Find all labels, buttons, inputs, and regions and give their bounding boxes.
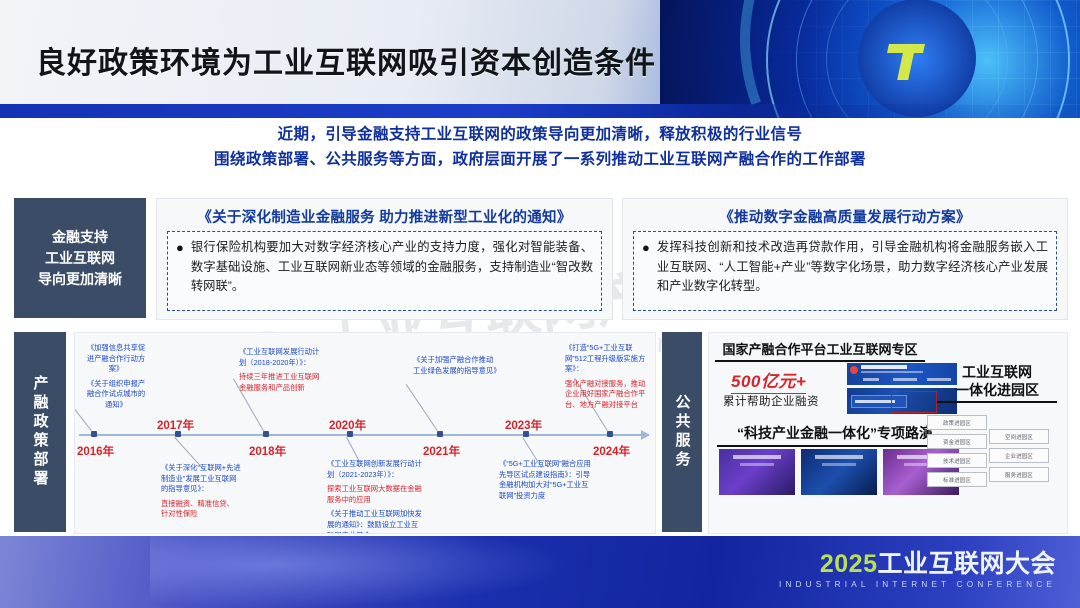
timeline-year-2023: 2023年	[505, 417, 542, 433]
footer-glow	[150, 536, 570, 608]
timeline-note-2018-item-0: 《工业互联网发展行动计划（2018-2020年）》：	[239, 347, 319, 367]
header-bottom-bar	[0, 104, 1080, 118]
timeline-year-2024: 2024年	[593, 443, 630, 459]
timeline-year-2018: 2018年	[249, 443, 286, 459]
park-tag-capital[interactable]: 资金进园区	[927, 434, 987, 449]
timeline-node-2021[interactable]	[437, 431, 443, 437]
platform-section-title: 国家产融合作平台工业互联网专区	[715, 339, 925, 362]
platform-highlight-box	[891, 391, 937, 413]
timeline-note-2018-item-1: 持续三年推进工业互联网金融服务和产品创新	[239, 372, 319, 392]
timeline-note-2024-item-0: 《打造“5G+工业互联网”512工程升级版实施方案》：	[565, 343, 645, 373]
timeline-note-2021: 《关于加强产融合作推动工业绿色发展的指导意见》	[413, 355, 497, 380]
timeline-note-2024: 《打造“5G+工业互联网”512工程升级版实施方案》： 强化产融对接服务，推动企…	[565, 343, 649, 415]
park-tag-technology[interactable]: 技术进园区	[927, 453, 987, 468]
policy-deployment-text: 产融政策部署	[30, 375, 51, 489]
timeline-note-2016: 《加强信息共享促进产融合作行动方案》 《关于组织申报产融合作试点城市的通知》	[85, 343, 147, 415]
timeline-note-2016-item-1: 《关于组织申报产融合作试点城市的通知》	[87, 379, 145, 409]
platform-name-bar	[861, 365, 907, 369]
timeline-note-2020-item-0: 《工业互联网创新发展行动计划（2021-2023年）》：	[327, 459, 422, 479]
timeline-note-2023: 《“5G+工业互联网”融合应用先导区试点建设指南》：引导金融机构加大对“5G+工…	[499, 459, 591, 505]
park-tag-policy[interactable]: 政策进园区	[927, 415, 987, 430]
timeline-node-2018[interactable]	[263, 431, 269, 437]
financial-support-line-1: 金融支持	[38, 227, 122, 248]
t-logo-icon	[886, 40, 928, 84]
slide-root: 良好政策环境为工业互联网吸引资本创造条件 近期，引导金融支持工业互联网的政策导向…	[0, 0, 1080, 608]
platform-logo-icon	[850, 366, 858, 374]
park-title-line-2: 一体化进园区	[937, 381, 1057, 399]
park-tag-space[interactable]: 空间进园区	[989, 429, 1049, 444]
timeline-leader-2021	[406, 384, 438, 431]
timeline-node-2024[interactable]	[607, 431, 613, 437]
timeline-year-2021: 2021年	[423, 443, 460, 459]
conference-name-en: INDUSTRIAL INTERNET CONFERENCE	[779, 580, 1056, 589]
financing-amount: 500亿元+	[731, 367, 806, 394]
park-tag-service[interactable]: 服务进园区	[989, 467, 1049, 482]
timeline-note-2020: 《工业互联网创新发展行动计划（2021-2023年）》： 探索工业互联网大数据在…	[327, 459, 423, 534]
timeline-note-2020-item-2: 《关于推动工业互联网加快发展的通知》：鼓励设立工业互联网产业基金	[327, 509, 422, 534]
policy-doc-card-2: 《推动数字金融高质量发展行动方案》 ● 发挥科技创新和技术改造再贷款作用，引导金…	[622, 198, 1068, 320]
timeline-note-2017-item-1: 直接融资、精准信贷、针对性保险	[161, 499, 234, 519]
timeline-year-2016: 2016年	[77, 443, 114, 459]
policy-doc-text-1: 银行保险机构要加大对数字经济核心产业的支持力度，强化对智能装备、数字基础设施、工…	[191, 238, 593, 297]
bullet-icon: ●	[176, 238, 184, 297]
header-tech-graphic	[660, 0, 1080, 118]
timeline-note-2017-item-0: 《关于深化“互联网+先进制造业”发展工业互联网的指导意见》：	[161, 463, 241, 493]
conference-name-cn: 工业互联网大会	[877, 550, 1056, 578]
conference-year: 2025	[820, 550, 878, 578]
timeline-year-2017: 2017年	[157, 417, 194, 433]
park-tag-column-1: 政策进园区 资金进园区 技术进园区 标准进园区	[927, 415, 987, 491]
park-tag-enterprise[interactable]: 企业进园区	[989, 448, 1049, 463]
policy-doc-title-2: 《推动数字金融高质量发展行动方案》	[623, 199, 1067, 227]
park-title-line-1: 工业互联网	[937, 363, 1057, 381]
roadshow-section-title: “科技产业金融一体化”专项路演	[717, 423, 953, 447]
bullet-icon: ●	[642, 238, 650, 297]
platform-nav-item-1	[863, 378, 879, 381]
policy-doc-card-1: 《关于深化制造业金融服务 助力推进新型工业化的通知》 ● 银行保险机构要加大对数…	[156, 198, 613, 320]
subtitle-block: 近期，引导金融支持工业互联网的政策导向更加清晰，释放积极的行业信号 围绕政策部署…	[0, 122, 1080, 172]
subtitle-line-1: 近期，引导金融支持工业互联网的政策导向更加清晰，释放积极的行业信号	[0, 122, 1080, 147]
park-section-title: 工业互联网 一体化进园区	[937, 363, 1057, 403]
financial-support-line-2: 工业互联网	[38, 248, 122, 269]
public-service-panel: 国家产融合作平台工业互联网专区 500亿元+ 累计帮助企业融资 “科技产业金融一…	[708, 332, 1068, 534]
policy-doc-title-1: 《关于深化制造业金融服务 助力推进新型工业化的通知》	[157, 199, 612, 227]
timeline-note-2024-item-1: 强化产融对接服务，推动企业用好国家产融合作平台、地方产融对接平台	[565, 379, 645, 409]
timeline-note-2023-item-0: 《“5G+工业互联网”融合应用先导区试点建设指南》：引导金融机构加大对“5G+工…	[499, 459, 591, 500]
slide-footer: 2025工业互联网大会 INDUSTRIAL INTERNET CONFEREN…	[0, 536, 1080, 608]
policy-doc-body-1: ● 银行保险机构要加大对数字经济核心产业的支持力度，强化对智能装备、数字基础设施…	[167, 231, 602, 311]
policy-timeline: 2016年 2017年 2018年 2020年 2021年 2023年 2024…	[74, 332, 656, 534]
subtitle-line-2: 围绕政策部署、公共服务等方面，政府层面开展了一系列推动工业互联网产融合作的工作部…	[0, 147, 1080, 172]
roadshow-thumb-2[interactable]	[801, 449, 877, 495]
timeline-axis	[79, 434, 649, 436]
policy-doc-body-2: ● 发挥科技创新和技术改造再贷款作用，引导金融机构将金融服务嵌入工业互联网、“人…	[633, 231, 1057, 311]
timeline-node-2016[interactable]	[91, 431, 97, 437]
roadshow-thumb-1[interactable]	[719, 449, 795, 495]
sidebar-label-policy-deployment: 产融政策部署	[14, 332, 66, 532]
timeline-note-2017: 《关于深化“互联网+先进制造业”发展工业互联网的指导意见》： 直接融资、精准信贷…	[161, 463, 241, 524]
park-tag-standard[interactable]: 标准进园区	[927, 472, 987, 487]
financing-amount-caption: 累计帮助企业融资	[723, 393, 819, 409]
park-tag-column-2: 空间进园区 企业进园区 服务进园区	[989, 429, 1049, 486]
sidebar-label-public-service: 公共服务	[662, 332, 702, 532]
platform-nav-item-2	[893, 378, 917, 381]
platform-subtitle-bar	[861, 371, 923, 373]
timeline-note-2021-item-0: 《关于加强产融合作推动工业绿色发展的指导意见》	[413, 355, 501, 375]
slide-header: 良好政策环境为工业互联网吸引资本创造条件	[0, 0, 1080, 118]
timeline-note-2020-item-1: 探索工业互联网大数据在金融服务中的应用	[327, 484, 422, 504]
timeline-year-2020: 2020年	[329, 417, 366, 433]
timeline-note-2018: 《工业互联网发展行动计划（2018-2020年）》： 持续三年推进工业互联网金融…	[239, 347, 325, 397]
conference-logo: 2025工业互联网大会 INDUSTRIAL INTERNET CONFEREN…	[779, 550, 1056, 589]
roadshow-thumbnails	[719, 449, 959, 495]
financial-support-line-3: 导向更加清晰	[38, 269, 122, 290]
timeline-note-2016-item-0: 《加强信息共享促进产融合作行动方案》	[87, 343, 145, 373]
policy-doc-text-2: 发挥科技创新和技术改造再贷款作用，引导金融机构将金融服务嵌入工业互联网、“人工智…	[657, 238, 1048, 297]
page-title: 良好政策环境为工业互联网吸引资本创造条件	[36, 38, 656, 82]
public-service-text: 公共服务	[672, 394, 693, 470]
sidebar-label-financial-support: 金融支持 工业互联网 导向更加清晰	[14, 198, 146, 318]
